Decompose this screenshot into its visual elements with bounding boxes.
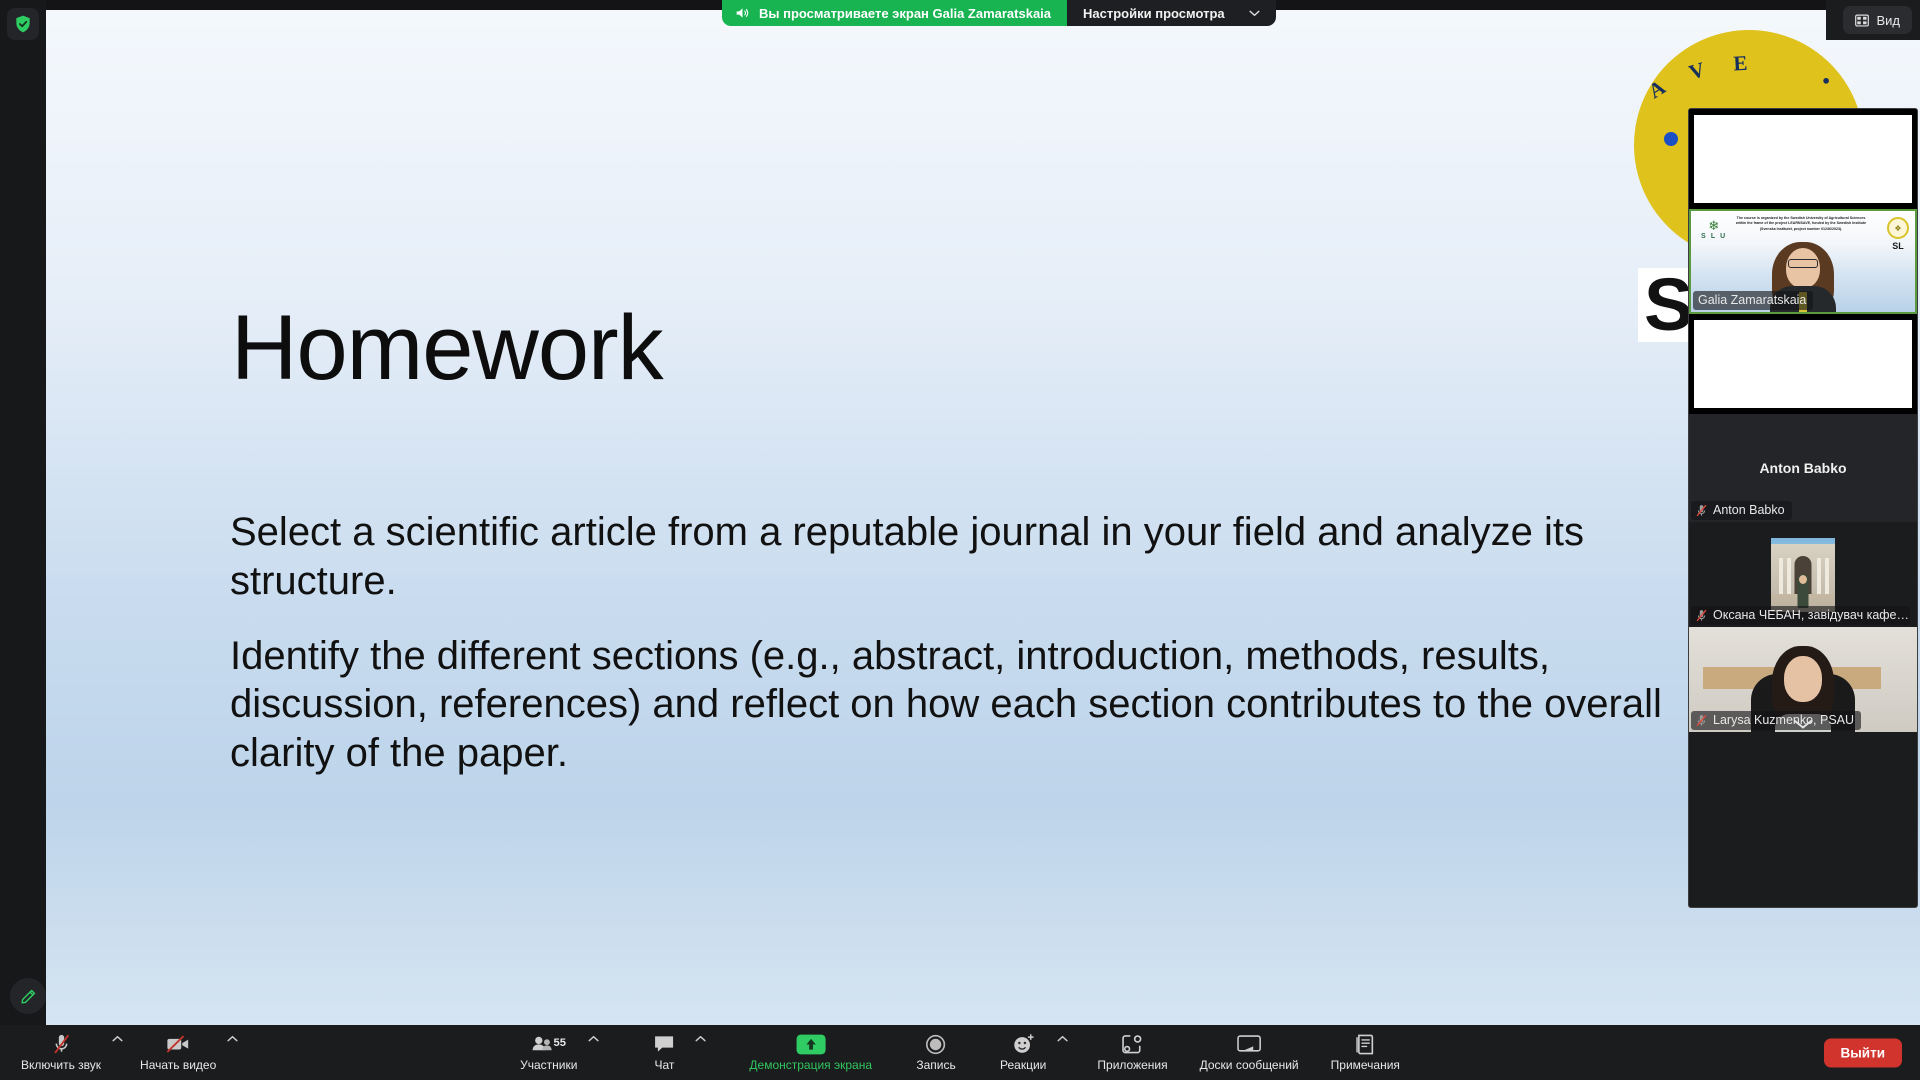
chat-button[interactable]: Чат	[635, 1025, 693, 1080]
course-funding-note: The course is organized by the Swedish U…	[1733, 216, 1869, 232]
microphone-muted-icon	[52, 1033, 71, 1055]
slide-body: Select a scientific article from a reput…	[230, 508, 1730, 804]
microphone-muted-icon	[1696, 609, 1707, 622]
slide-title: Homework	[231, 302, 663, 394]
participant-name-tag: Оксана ЧЕБАН, завідувач кафе…	[1691, 606, 1910, 625]
swedish-institute-badge: ❖ SL	[1887, 217, 1909, 251]
left-rail	[0, 0, 46, 1025]
camera-muted-icon	[166, 1033, 190, 1055]
video-options-caret[interactable]	[225, 1025, 246, 1080]
slu-logo: ❄ S L U	[1701, 219, 1727, 240]
si-label: SL	[1887, 241, 1909, 251]
view-settings-label: Настройки просмотра	[1083, 6, 1225, 21]
participant-tile-larysa[interactable]: Larysa Kuzmenko, PSAU	[1689, 627, 1917, 732]
whiteboard-label: Доски сообщений	[1200, 1058, 1299, 1072]
participant-name: Galia Zamaratskaia	[1698, 293, 1806, 307]
record-button[interactable]: Запись	[907, 1025, 965, 1080]
start-video-label: Начать видео	[140, 1058, 216, 1072]
slide-paragraph-2: Identify the different sections (e.g., a…	[230, 632, 1730, 778]
participant-display-name: Anton Babko	[1759, 460, 1846, 476]
participant-tile-anton[interactable]: Anton Babko Anton Babko	[1689, 414, 1917, 522]
record-label: Запись	[916, 1058, 955, 1072]
chat-label: Чат	[654, 1058, 674, 1072]
chevron-up-icon	[695, 1035, 706, 1042]
apps-icon	[1121, 1033, 1144, 1055]
top-floating-bar: Вы просматриваете экран Galia Zamaratska…	[722, 0, 1276, 26]
participant-tile-oksana[interactable]: Оксана ЧЕБАН, завідувач кафе…	[1689, 522, 1917, 627]
chat-options-caret[interactable]	[693, 1025, 714, 1080]
participant-tile-galia[interactable]: ❄ S L U The course is organized by the S…	[1689, 209, 1917, 314]
notes-icon	[1355, 1033, 1375, 1055]
chevron-up-icon	[1057, 1035, 1068, 1042]
share-screen-label: Демонстрация экрана	[749, 1058, 872, 1072]
participants-icon: 55	[532, 1033, 566, 1055]
share-banner-text: Вы просматриваете экран Galia Zamaratska…	[759, 6, 1051, 21]
ring-char: A	[1644, 75, 1670, 104]
zoom-meeting-window: LEARNSAVE•LEA Si Homework Select a scien…	[0, 0, 1920, 1080]
learnsave-blue-dot	[1664, 132, 1678, 146]
chevron-up-icon	[588, 1035, 599, 1042]
leave-meeting-button[interactable]: Выйти	[1824, 1038, 1903, 1067]
screen-share-banner: Вы просматриваете экран Galia Zamaratska…	[722, 0, 1067, 26]
participant-tile-blank-1[interactable]	[1689, 109, 1917, 209]
view-button[interactable]: Вид	[1843, 6, 1912, 34]
meeting-toolbar: Включить звук Начать видео	[0, 1025, 1920, 1080]
blank-video-surface	[1694, 320, 1913, 408]
strip-scroll-down-button[interactable]	[1689, 718, 1917, 730]
share-screen-button[interactable]: Демонстрация экрана	[740, 1025, 881, 1080]
whiteboard-icon	[1237, 1033, 1261, 1055]
record-icon	[926, 1033, 947, 1055]
participant-name-tag: Galia Zamaratskaia	[1693, 291, 1813, 310]
ring-char: S	[1634, 104, 1636, 130]
ring-char: E	[1733, 51, 1748, 77]
toolbar-left-group: Включить звук Начать видео	[12, 1025, 246, 1080]
participants-label: Участники	[520, 1058, 577, 1072]
reactions-button[interactable]: Реакции	[991, 1025, 1055, 1080]
pencil-annotate-icon[interactable]	[10, 978, 46, 1014]
unmute-button[interactable]: Включить звук	[12, 1025, 110, 1080]
participant-name: Anton Babko	[1713, 503, 1785, 517]
seal-icon: ❖	[1887, 217, 1909, 239]
participants-options-caret[interactable]	[586, 1025, 607, 1080]
grid-icon	[1855, 14, 1869, 27]
participants-button[interactable]: 55 Участники	[511, 1025, 586, 1080]
chevron-down-icon	[1249, 10, 1260, 17]
slu-label: S L U	[1701, 233, 1727, 240]
speaker-icon	[735, 6, 750, 20]
ring-char: •	[1817, 68, 1835, 94]
participants-video-strip[interactable]: ❄ S L U The course is organized by the S…	[1688, 108, 1918, 908]
chevron-up-icon	[227, 1035, 238, 1042]
participant-name-tag: Anton Babko	[1691, 501, 1792, 520]
shield-check-icon[interactable]	[7, 8, 39, 40]
apps-label: Приложения	[1097, 1058, 1167, 1072]
notes-button[interactable]: Примечания	[1322, 1025, 1409, 1080]
slide-paragraph-1: Select a scientific article from a reput…	[230, 508, 1730, 606]
reactions-icon	[1012, 1033, 1035, 1055]
shared-screen-slide: LEARNSAVE•LEA Si Homework Select a scien…	[46, 10, 1920, 1025]
notes-label: Примечания	[1331, 1058, 1400, 1072]
reactions-options-caret[interactable]	[1055, 1025, 1076, 1080]
svg-text:55: 55	[553, 1037, 565, 1049]
reactions-label: Реакции	[1000, 1058, 1046, 1072]
whiteboard-button[interactable]: Доски сообщений	[1191, 1025, 1308, 1080]
participant-name: Оксана ЧЕБАН, завідувач кафе…	[1713, 608, 1909, 622]
chevron-up-icon	[112, 1035, 123, 1042]
audio-options-caret[interactable]	[110, 1025, 131, 1080]
chevron-down-icon	[1792, 718, 1814, 730]
ring-char: V	[1686, 57, 1708, 85]
microphone-muted-icon	[1696, 504, 1707, 517]
share-screen-icon	[796, 1033, 826, 1055]
unmute-label: Включить звук	[21, 1058, 101, 1072]
view-settings-button[interactable]: Настройки просмотра	[1067, 0, 1276, 26]
toolbar-center-group: 55 Участники Чат	[511, 1025, 1409, 1080]
apps-button[interactable]: Приложения	[1088, 1025, 1176, 1080]
start-video-button[interactable]: Начать видео	[131, 1025, 225, 1080]
participant-tile-blank-2[interactable]	[1689, 314, 1917, 414]
slu-leaf-icon: ❄	[1701, 219, 1727, 232]
view-button-label: Вид	[1876, 13, 1900, 28]
blank-video-surface	[1694, 115, 1913, 203]
chat-icon	[653, 1033, 675, 1055]
participant-profile-photo	[1771, 538, 1835, 612]
